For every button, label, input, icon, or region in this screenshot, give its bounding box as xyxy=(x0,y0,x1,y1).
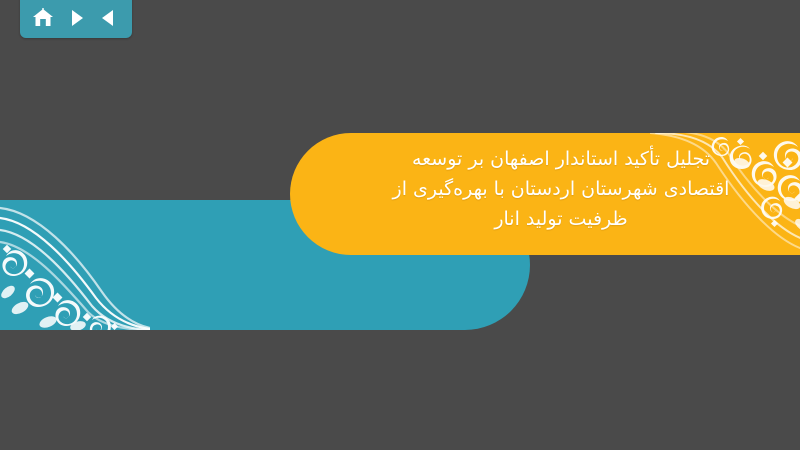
triangle-left-icon xyxy=(99,8,119,28)
slide-canvas: تجلیل تأکید استاندار اصفهان بر توسعه اقت… xyxy=(0,0,800,450)
navigation-bar xyxy=(20,0,132,38)
home-icon xyxy=(32,8,54,28)
title-line-1: تجلیل تأکید استاندار اصفهان بر توسعه xyxy=(330,144,792,174)
title-banner: تجلیل تأکید استاندار اصفهان بر توسعه اقت… xyxy=(290,133,800,255)
home-button[interactable] xyxy=(30,5,56,31)
next-button[interactable] xyxy=(63,5,89,31)
page-title: تجلیل تأکید استاندار اصفهان بر توسعه اقت… xyxy=(330,144,792,234)
previous-button[interactable] xyxy=(96,5,122,31)
title-line-3: ظرفیت تولید انار xyxy=(330,204,792,234)
teal-corner-ornament-icon xyxy=(0,200,150,330)
triangle-right-icon xyxy=(66,8,86,28)
title-line-2: اقتصادی شهرستان اردستان با بهره‌گیری از xyxy=(330,174,792,204)
